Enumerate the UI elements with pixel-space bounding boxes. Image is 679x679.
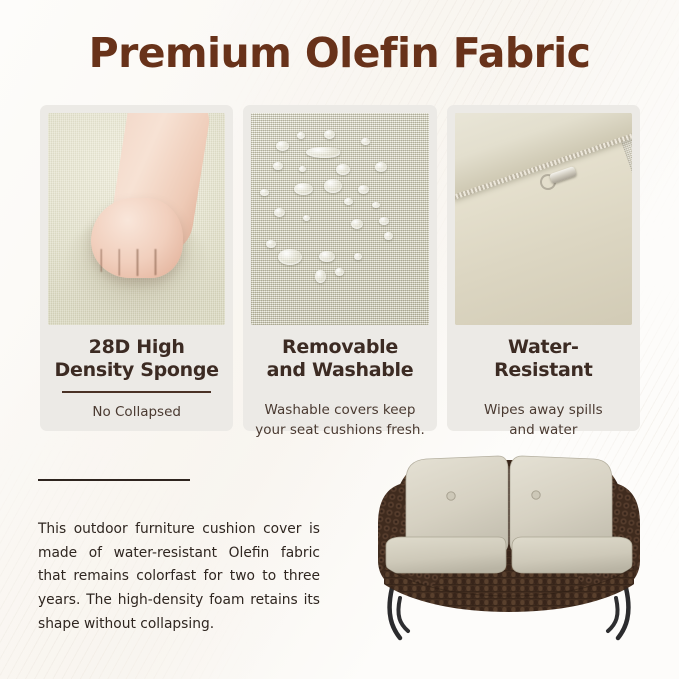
- description-paragraph: This outdoor furniture cushion cover is …: [38, 518, 320, 637]
- water-droplet: [324, 179, 342, 193]
- feature-card-water-resistant: Water- Resistant Wipes away spills and w…: [447, 105, 640, 431]
- water-droplet: [306, 147, 340, 158]
- feature-card-heading: Removable and Washable: [267, 336, 414, 382]
- water-droplet: [354, 253, 362, 260]
- feature-card-heading-line-2: and Washable: [267, 359, 414, 382]
- water-droplet: [273, 162, 283, 170]
- feature-card-heading: 28D High Density Sponge: [55, 336, 219, 382]
- feature-card-subtext-line-1: Washable covers keep: [255, 401, 425, 421]
- leg-right-rear: [618, 588, 628, 638]
- feature-card-subtext: No Collapsed: [92, 403, 181, 423]
- wicker-loveseat-photo: [358, 438, 660, 648]
- feature-card-heading-line-2: Resistant: [494, 359, 592, 382]
- water-droplet: [372, 202, 380, 208]
- feature-card-subtext-line-1: No Collapsed: [92, 403, 181, 423]
- feature-card-heading-line-1: Removable: [267, 336, 414, 359]
- water-droplet: [358, 185, 369, 194]
- feature-card-heading-line-1: Water-: [494, 336, 592, 359]
- water-droplet: [266, 240, 276, 248]
- water-droplet: [303, 215, 310, 221]
- feature-card-heading-line-2: Density Sponge: [55, 359, 219, 382]
- description-divider: [38, 479, 190, 481]
- feature-card-subtext: Washable covers keep your seat cushions …: [255, 401, 425, 440]
- water-droplet: [294, 183, 313, 195]
- feature-card-density: 28D High Density Sponge No Collapsed: [40, 105, 233, 431]
- water-droplet: [319, 251, 335, 262]
- water-droplet: [315, 270, 326, 283]
- water-droplet: [276, 141, 289, 151]
- tufting-button-right: [532, 491, 540, 499]
- leg-right-front: [608, 598, 618, 631]
- zipper-cushion-cover-photo: [455, 113, 632, 325]
- leg-left-front: [398, 598, 408, 631]
- tufting-button-left: [447, 492, 455, 500]
- feature-card-subtext-line-1: Wipes away spills: [484, 401, 603, 421]
- seat-cushion-right: [512, 537, 632, 573]
- water-droplet: [384, 232, 393, 240]
- water-droplet: [324, 130, 335, 139]
- water-beads-on-fabric-photo: [251, 113, 428, 325]
- feature-card-heading: Water- Resistant: [494, 336, 592, 382]
- water-droplet: [335, 268, 344, 276]
- water-droplet: [278, 249, 302, 265]
- fist-pressing-cushion-photo: [48, 113, 225, 325]
- water-droplet: [379, 217, 389, 225]
- feature-card-row: 28D High Density Sponge No Collapsed: [40, 105, 640, 431]
- feature-card-subtext: Wipes away spills and water: [484, 401, 603, 440]
- feature-card-heading-line-1: 28D High: [55, 336, 219, 359]
- infographic-page: Premium Olefin Fabric 28D High Density S…: [0, 0, 679, 679]
- page-title: Premium Olefin Fabric: [0, 29, 679, 77]
- feature-card-divider: [62, 391, 211, 393]
- knuckle-lines: [94, 249, 176, 277]
- water-droplet: [351, 219, 363, 229]
- water-droplet: [344, 198, 353, 205]
- seat-cushion-left: [386, 537, 506, 573]
- feature-card-washable: Removable and Washable Washable covers k…: [243, 105, 436, 431]
